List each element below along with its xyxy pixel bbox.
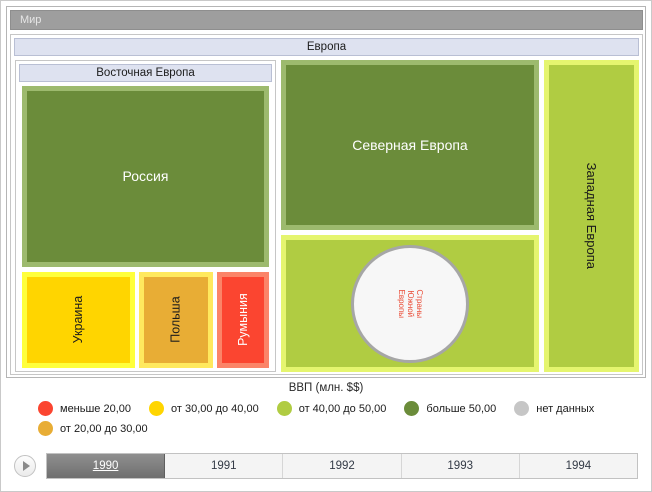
- year-cell-1991[interactable]: 1991: [165, 454, 283, 478]
- legend-item-label: от 30,00 до 40,00: [171, 403, 259, 415]
- treemap-header-eastern-europe[interactable]: Восточная Европа: [19, 64, 272, 82]
- year-cell-1993[interactable]: 1993: [402, 454, 520, 478]
- legend-item[interactable]: от 40,00 до 50,00: [277, 401, 387, 416]
- legend-item[interactable]: от 30,00 до 40,00: [149, 401, 259, 416]
- treemap-tile-ukraine-label: Украина: [72, 296, 85, 344]
- treemap-group-europe: Европа Восточная Европа Россия Украина: [10, 34, 643, 375]
- treemap-southern-europe-circle[interactable]: СтраныЮжнойЕвропы: [351, 245, 469, 363]
- legend-swatch-icon: [277, 401, 292, 416]
- play-triangle-icon: [23, 461, 30, 471]
- legend-items: меньше 20,00от 30,00 до 40,00от 40,00 до…: [6, 401, 646, 441]
- legend-swatch-icon: [514, 401, 529, 416]
- year-cell-1992[interactable]: 1992: [283, 454, 401, 478]
- treemap-tile-southern-europe-label: СтраныЮжнойЕвропы: [396, 289, 424, 318]
- treemap-tile-southern-europe[interactable]: СтраныЮжнойЕвропы: [281, 235, 539, 372]
- treemap-root-header-world[interactable]: Мир: [10, 10, 643, 30]
- year-track[interactable]: 19901991199219931994: [46, 453, 638, 479]
- treemap-tile-ukraine-fill: Украина: [27, 277, 130, 363]
- treemap-tile-romania[interactable]: Румыния: [217, 272, 269, 368]
- legend-item-label: нет данных: [536, 403, 594, 415]
- treemap-tile-poland-label: Польша: [169, 297, 182, 343]
- treemap-tile-russia-fill: Россия: [27, 91, 264, 262]
- legend-title: ВВП (млн. $$): [6, 382, 646, 394]
- legend-swatch-icon: [38, 401, 53, 416]
- legend-item-label: от 20,00 до 30,00: [60, 423, 148, 435]
- legend-item-label: от 40,00 до 50,00: [299, 403, 387, 415]
- treemap-tile-western-europe[interactable]: Западная Европа: [544, 60, 639, 372]
- legend-swatch-icon: [38, 421, 53, 436]
- treemap-header-europe[interactable]: Европа: [14, 38, 639, 56]
- legend-item[interactable]: меньше 20,00: [38, 401, 131, 416]
- legend-item[interactable]: от 20,00 до 30,00: [38, 421, 148, 436]
- legend-item[interactable]: больше 50,00: [404, 401, 496, 416]
- treemap-tile-poland[interactable]: Польша: [139, 272, 213, 368]
- treemap-tile-northern-europe-label: Северная Европа: [352, 138, 467, 153]
- treemap-tile-poland-fill: Польша: [144, 277, 208, 363]
- treemap-group-eastern-europe: Восточная Европа Россия Украина Польша: [15, 60, 276, 372]
- legend-swatch-icon: [404, 401, 419, 416]
- legend-swatch-icon: [149, 401, 164, 416]
- timeline-slider: 19901991199219931994: [6, 445, 646, 487]
- play-icon[interactable]: [14, 455, 36, 477]
- legend-item[interactable]: нет данных: [514, 401, 594, 416]
- treemap-tile-northern-europe[interactable]: Северная Европа: [281, 60, 539, 230]
- year-cell-1990[interactable]: 1990: [47, 454, 165, 478]
- treemap-tile-northern-europe-fill: Северная Европа: [286, 65, 534, 225]
- treemap-tile-southern-europe-fill: СтраныЮжнойЕвропы: [286, 240, 534, 367]
- treemap-tile-western-europe-fill: Западная Европа: [549, 65, 634, 367]
- treemap-tile-ukraine[interactable]: Украина: [22, 272, 135, 368]
- treemap-tile-romania-label: Румыния: [236, 294, 249, 347]
- treemap-tile-russia[interactable]: Россия: [22, 86, 269, 267]
- treemap-tile-western-europe-label: Западная Европа: [585, 163, 599, 269]
- legend-item-label: меньше 20,00: [60, 403, 131, 415]
- year-cell-1994[interactable]: 1994: [520, 454, 637, 478]
- legend-item-label: больше 50,00: [426, 403, 496, 415]
- legend: ВВП (млн. $$) меньше 20,00от 30,00 до 40…: [6, 382, 646, 440]
- treemap-chart: Мир Европа Восточная Европа Россия Украи…: [6, 6, 646, 378]
- treemap-tile-romania-fill: Румыния: [222, 277, 264, 363]
- treemap-tile-russia-label: Россия: [123, 169, 169, 184]
- treemap-app: Мир Европа Восточная Европа Россия Украи…: [0, 0, 652, 492]
